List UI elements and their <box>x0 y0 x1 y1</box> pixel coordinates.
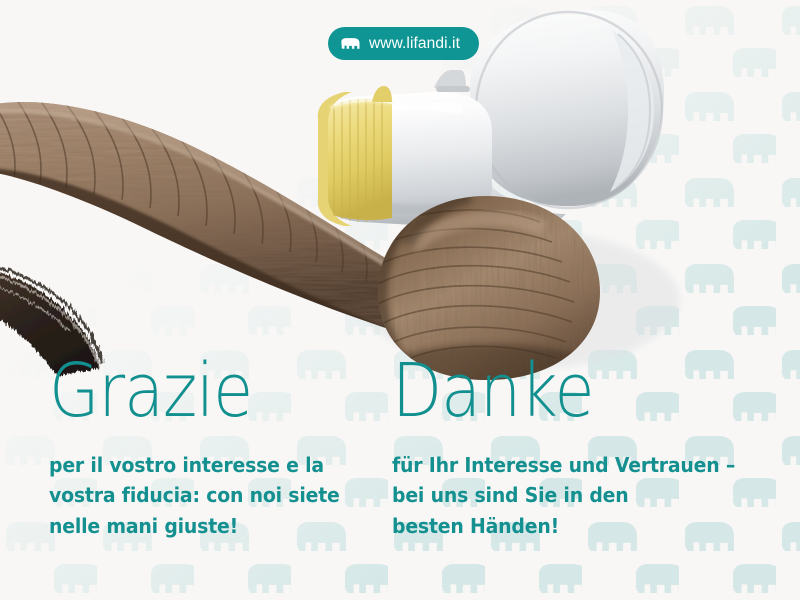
headline-german: Danke <box>392 355 709 428</box>
body-german-line-3: besten Händen! <box>392 511 723 542</box>
body-german-line-2: bei uns sind Sie in den <box>392 480 723 511</box>
body-italian-line-3: nelle mani giuste! <box>49 511 353 542</box>
body-italian-line-2: vostra fiducia: con noi siete <box>49 480 353 511</box>
body-italian-line-1: per il vostro interesse e la <box>49 450 353 481</box>
body-german-line-1: für Ihr Interesse und Vertrauen – <box>392 450 723 481</box>
headline-italian: Grazie <box>49 355 339 428</box>
website-url-badge[interactable]: www.lifandi.it <box>328 27 479 60</box>
website-url-text: www.lifandi.it <box>369 36 460 52</box>
column-german: Danke für Ihr Interesse und Vertrauen – … <box>392 355 752 542</box>
elephant-icon <box>341 36 360 51</box>
message-copy: Grazie per il vostro interesse e la vost… <box>0 0 800 600</box>
body-german: für Ihr Interesse und Vertrauen – bei un… <box>392 450 723 542</box>
column-italian: Grazie per il vostro interesse e la vost… <box>49 355 379 542</box>
body-italian: per il vostro interesse e la vostra fidu… <box>49 450 353 542</box>
poster-canvas: www.lifandi.it Grazie per il vostro inte… <box>0 0 800 600</box>
